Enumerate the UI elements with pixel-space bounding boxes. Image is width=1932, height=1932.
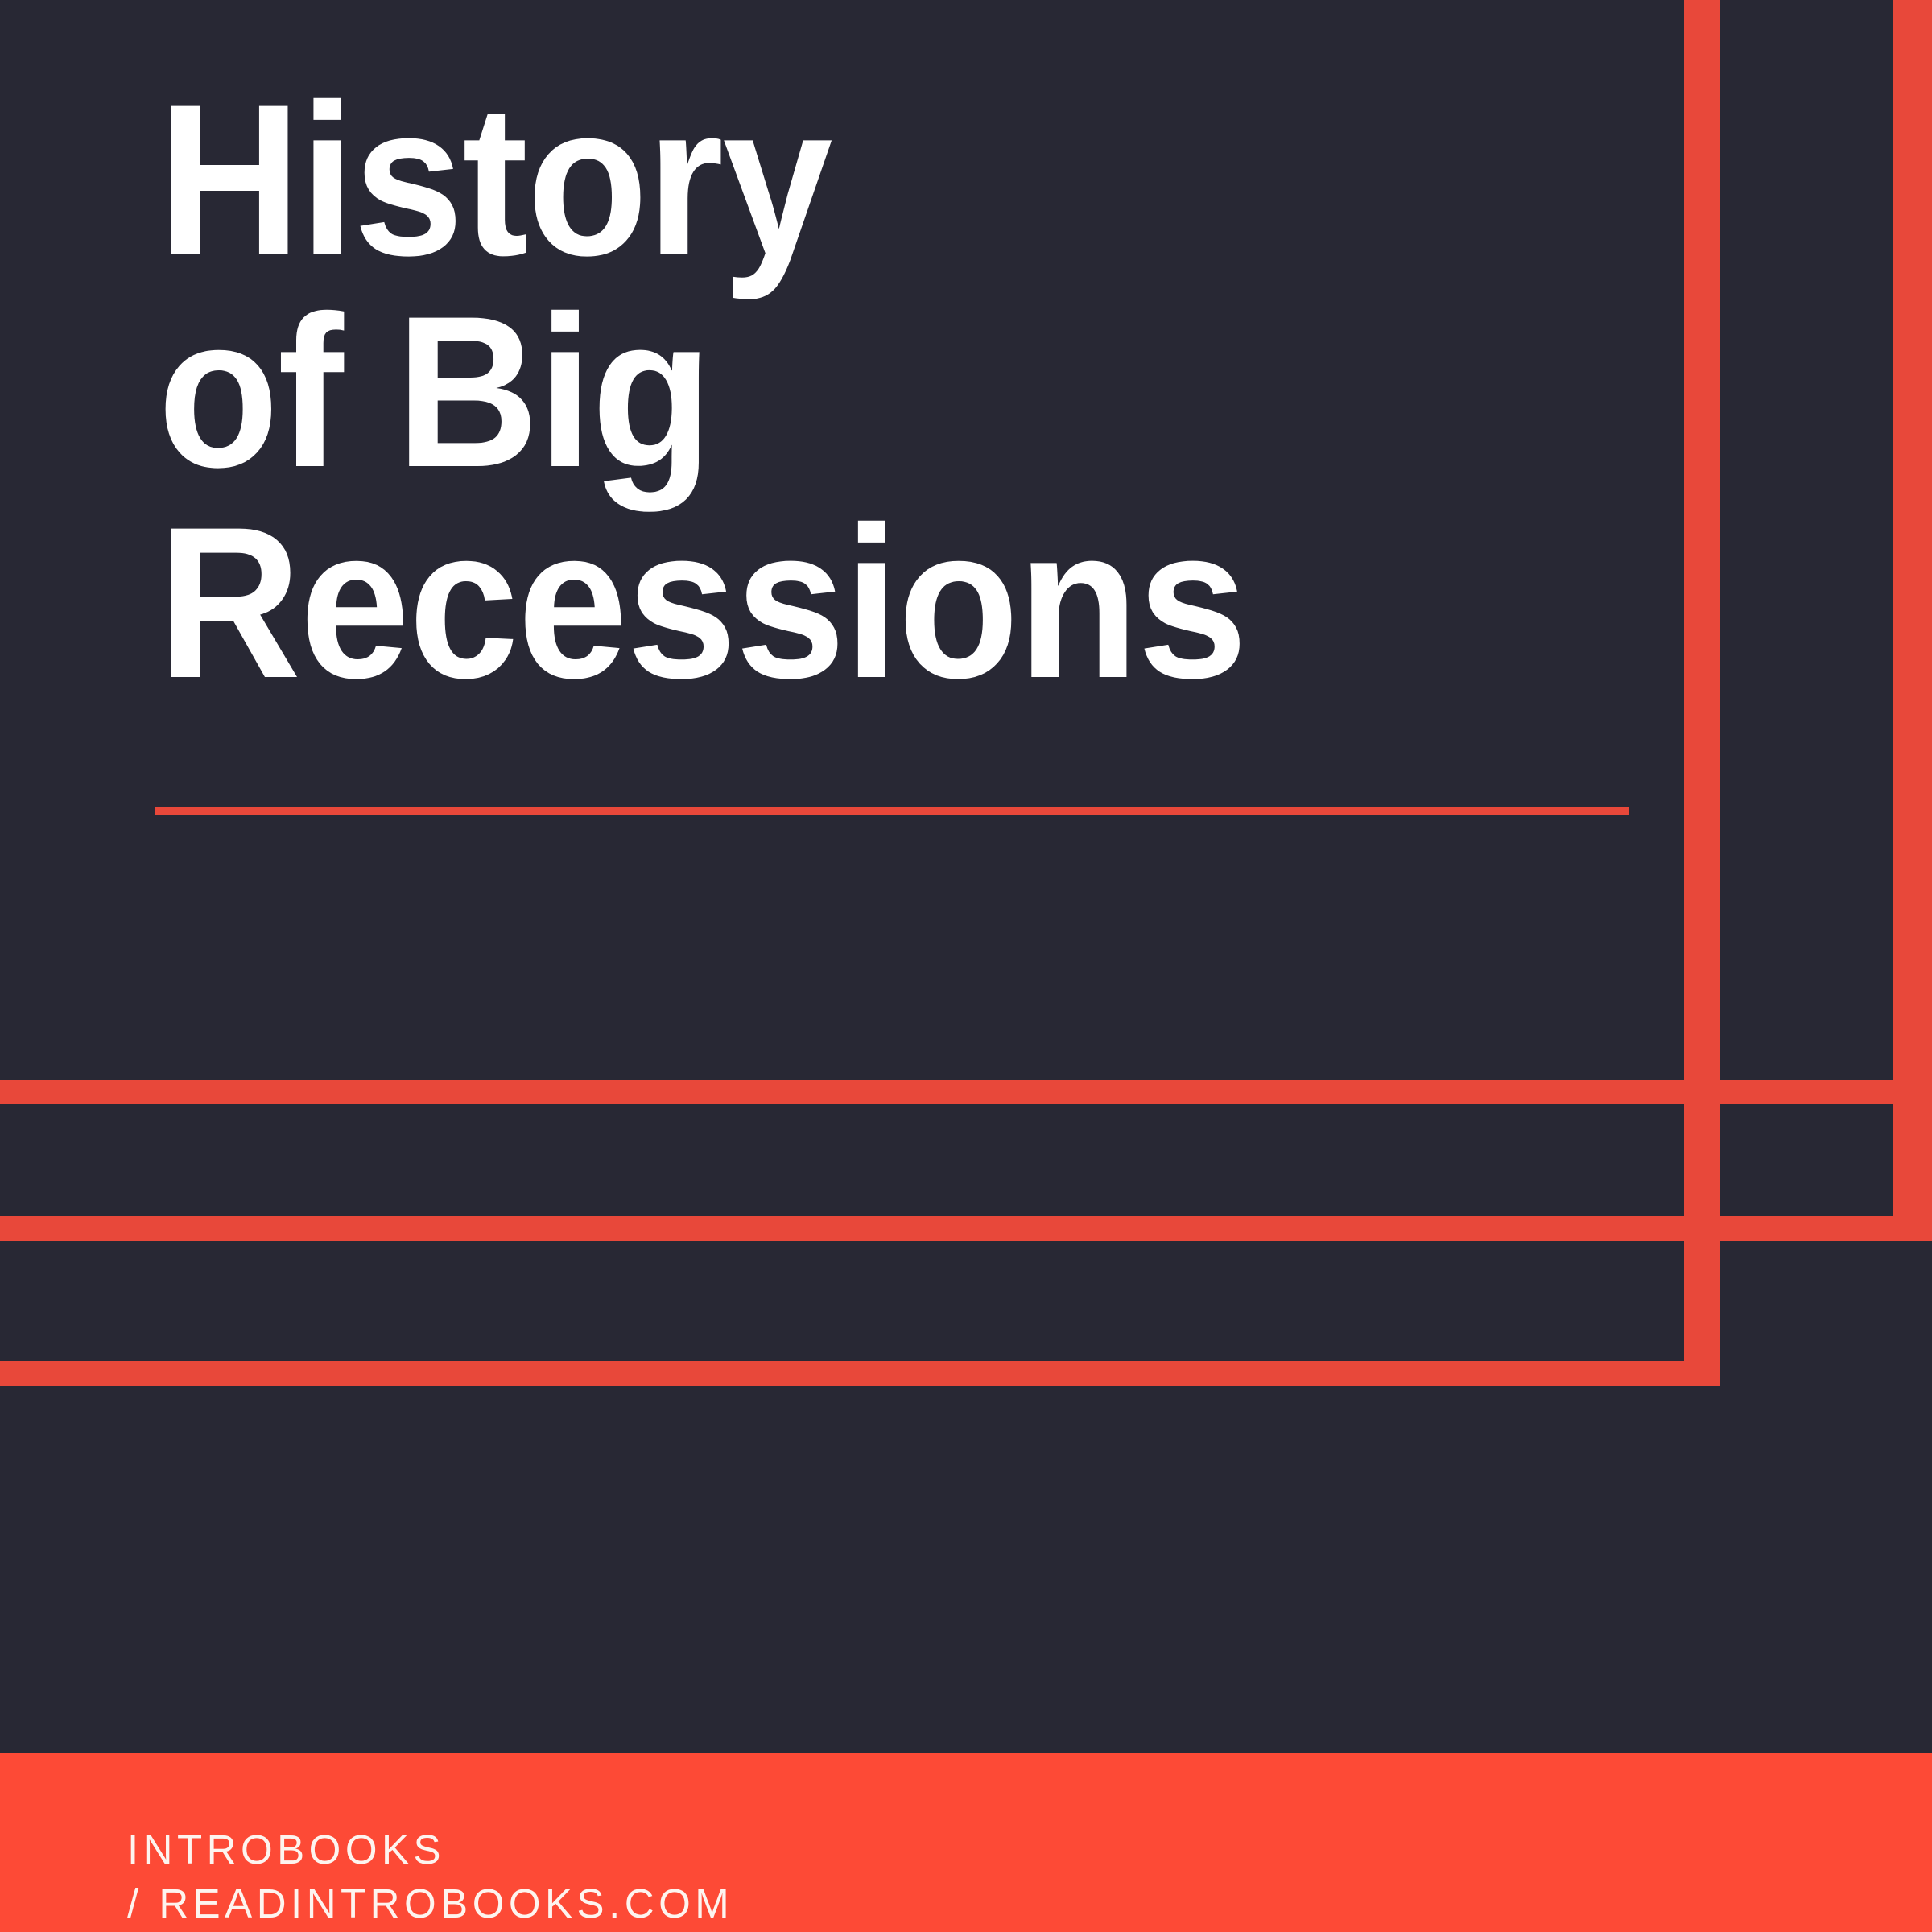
cover-title: History of Big Recessions bbox=[158, 74, 1639, 708]
horizontal-rule-middle bbox=[0, 1216, 1932, 1241]
title-line-2: of Big bbox=[158, 286, 1521, 497]
title-line-1: History bbox=[158, 74, 1521, 286]
publisher-credit: INTROBOOKS / READINTROBOOKS.COM bbox=[127, 1823, 733, 1931]
title-underline bbox=[155, 807, 1629, 815]
horizontal-rule-top bbox=[0, 1080, 1932, 1104]
title-line-3: Recessions bbox=[158, 497, 1521, 708]
publisher-name: INTROBOOKS bbox=[127, 1823, 733, 1876]
vertical-rule-inner bbox=[1684, 0, 1720, 1386]
vertical-rule-outer bbox=[1893, 0, 1932, 1241]
book-cover: History of Big Recessions INTROBOOKS / R… bbox=[0, 0, 1932, 1932]
horizontal-rule-bottom bbox=[0, 1361, 1720, 1386]
publisher-website: / READINTROBOOKS.COM bbox=[127, 1876, 733, 1930]
